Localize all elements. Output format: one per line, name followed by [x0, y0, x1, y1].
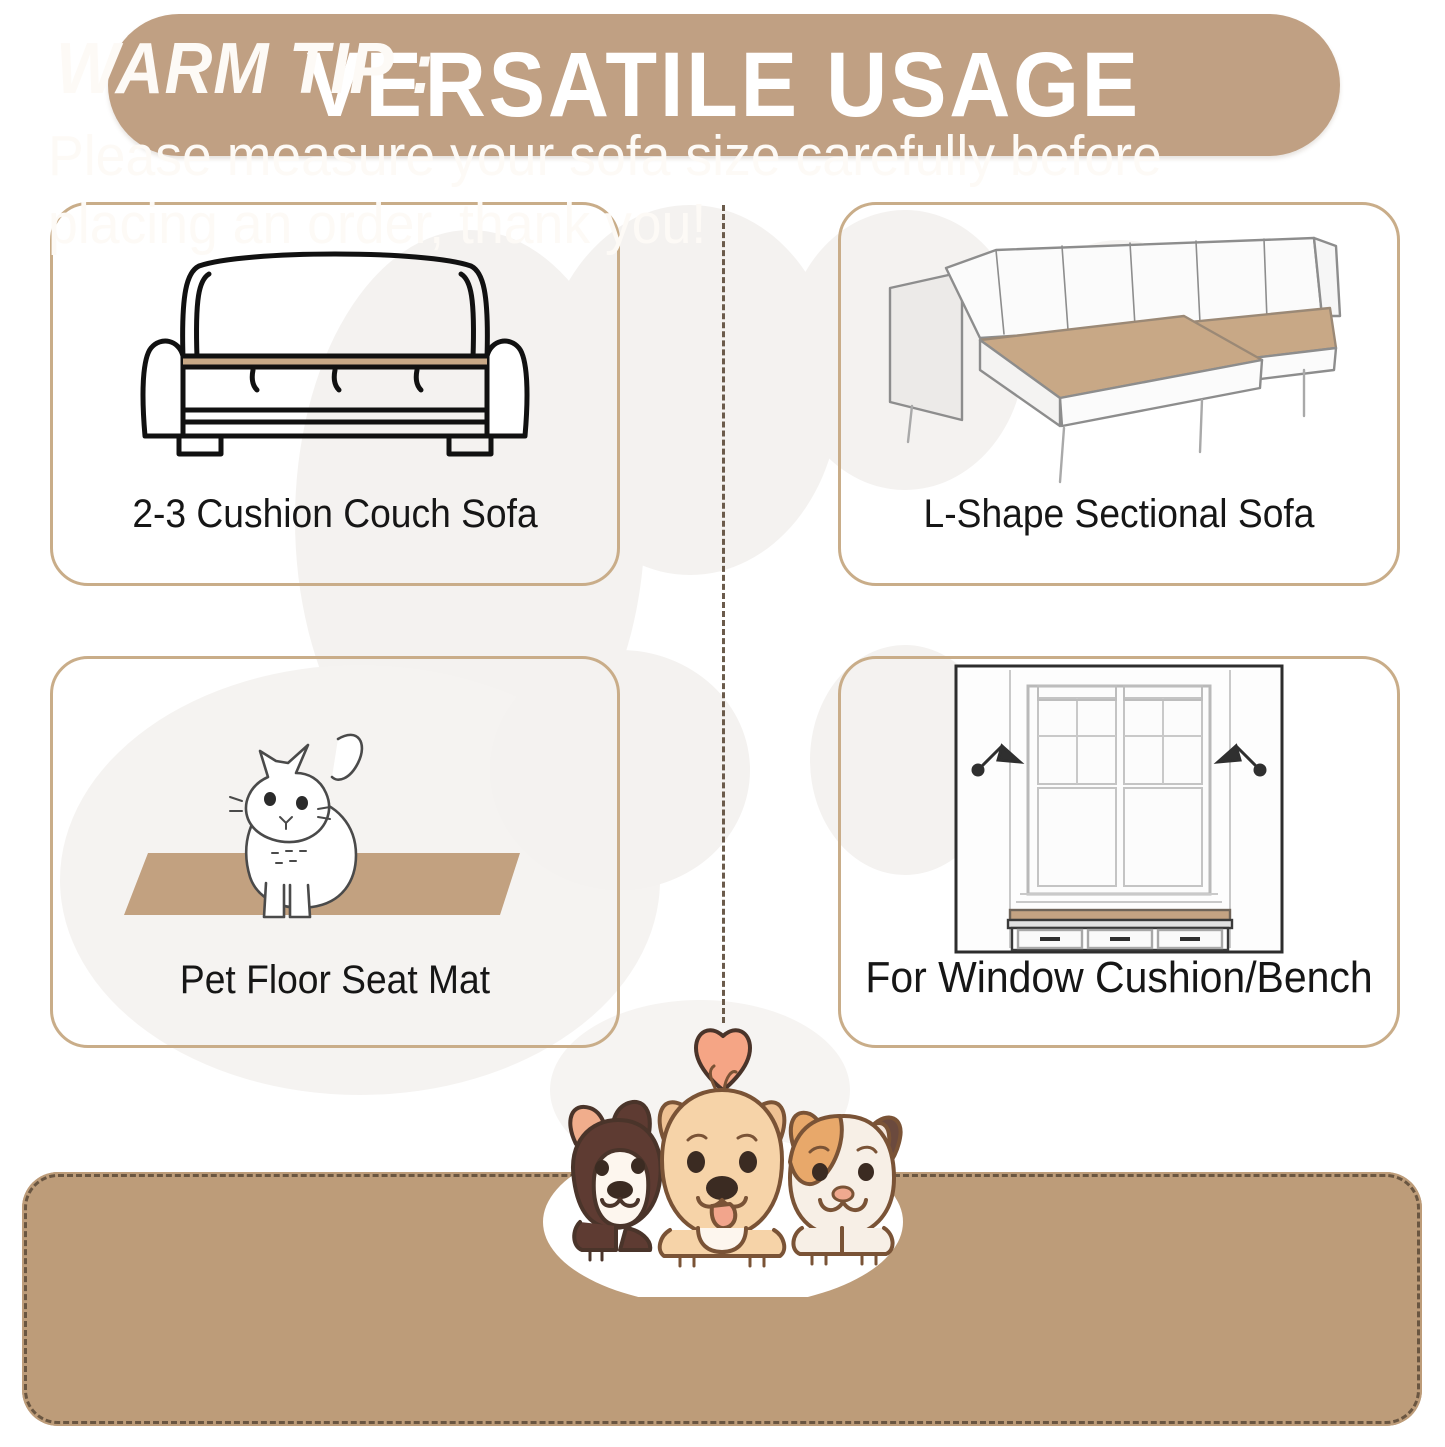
usage-card-label: 2-3 Cushion Couch Sofa: [73, 493, 598, 535]
usage-card-label: For Window Cushion/Bench: [860, 955, 1377, 1001]
usage-card-window-bench[interactable]: For Window Cushion/Bench: [838, 656, 1400, 1048]
vertical-dashed-divider: [722, 205, 725, 1023]
usage-card-couch-sofa[interactable]: 2-3 Cushion Couch Sofa: [50, 202, 620, 586]
warm-tip-line-1: Please measure your sofa size carefully …: [48, 128, 1162, 185]
window-bench-illustration: [841, 659, 1397, 959]
usage-card-pet-floor-mat[interactable]: Pet Floor Seat Mat: [50, 656, 620, 1048]
l-shape-sofa-illustration: [841, 205, 1397, 505]
usage-card-l-shape-sofa[interactable]: L-Shape Sectional Sofa: [838, 202, 1400, 586]
warm-tip-line-2: placing an order, thank you!: [48, 196, 706, 253]
pet-floor-mat-illustration: [53, 659, 617, 971]
infographic-canvas: VERSATILE USAGE: [0, 0, 1445, 1447]
three-pets-illustration: [498, 1012, 948, 1297]
usage-card-label: L-Shape Sectional Sofa: [860, 493, 1377, 535]
warm-tip-heading: WARM TIP :: [56, 28, 434, 110]
usage-card-label: Pet Floor Seat Mat: [73, 959, 598, 1001]
heart-icon: [696, 1030, 750, 1090]
